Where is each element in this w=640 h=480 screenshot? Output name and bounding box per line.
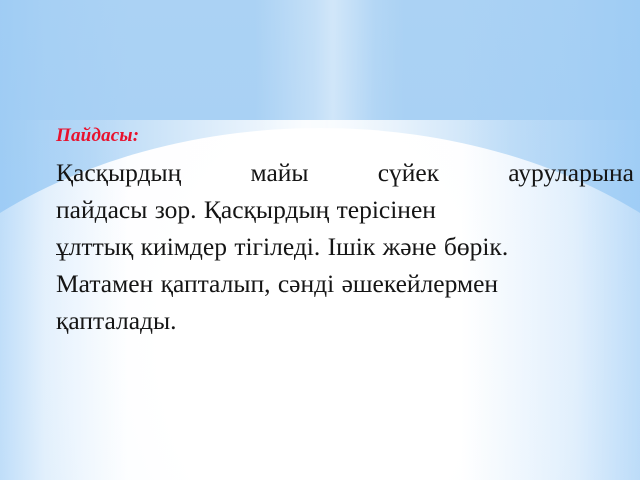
body-line-4: Матамен қапталып, сәнді әшекейлермен [56,265,634,302]
body-word: майы [250,154,308,191]
body-word: сүйек [378,154,439,191]
slide-heading: Пайдасы: [56,124,634,148]
slide-body: Қасқырдың майы сүйек ауруларына пайдасы … [56,154,634,339]
body-line-2: пайдасы зор. Қасқырдың терісінен [56,191,634,228]
body-line-1: Қасқырдың майы сүйек ауруларына [56,154,634,191]
body-line-5: қапталады. [56,302,634,339]
slide-canvas: Пайдасы: Қасқырдың майы сүйек ауруларына… [0,0,640,480]
body-word: ауруларына [508,154,634,191]
body-word: Қасқырдың [56,154,181,191]
body-line-3: ұлттық киімдер тігіледі. Ішік және бөрік… [56,228,634,265]
text-block: Пайдасы: Қасқырдың майы сүйек ауруларына… [56,124,634,339]
